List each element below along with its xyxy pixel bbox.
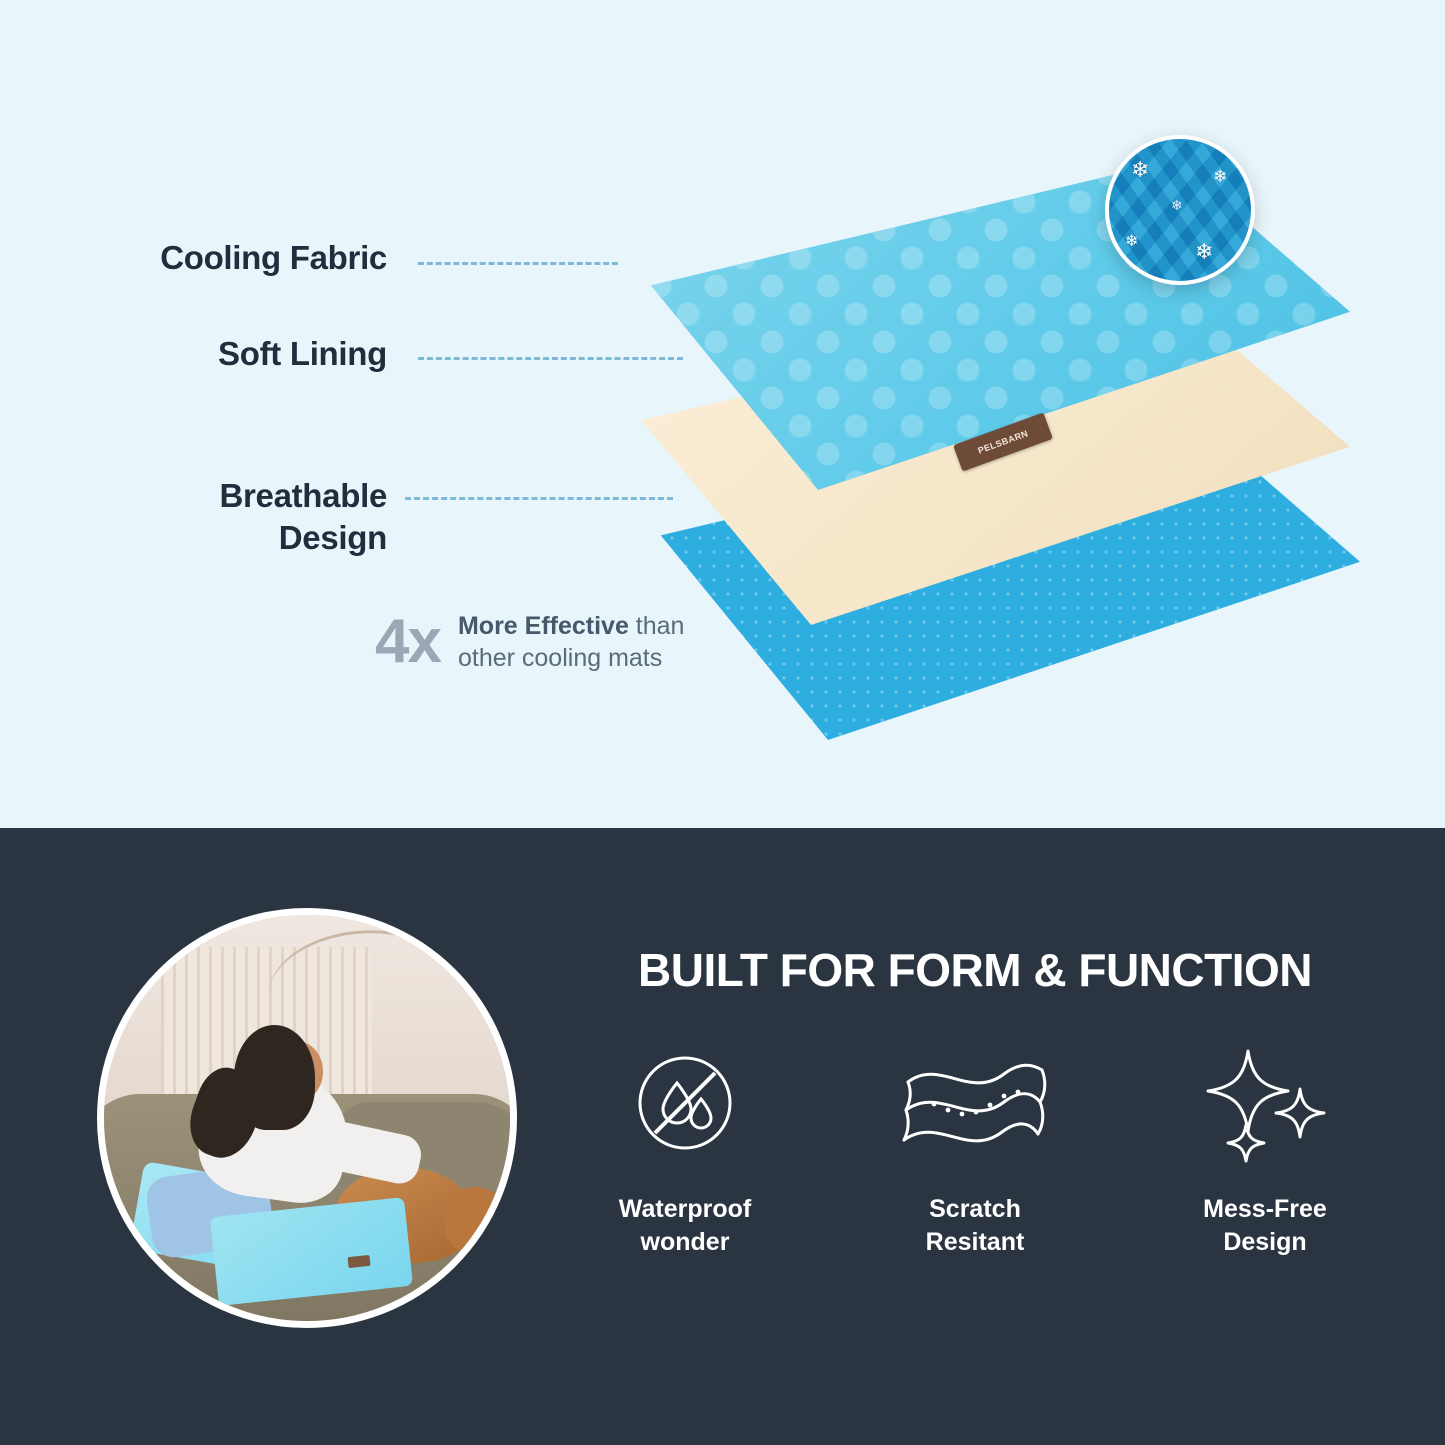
photo-person-hair — [234, 1025, 315, 1131]
feature-waterproof: Waterproof wonder — [560, 1043, 810, 1258]
photo-mat-tag — [347, 1255, 370, 1268]
label-breathable-line2: Design — [279, 519, 387, 556]
feature-label-scratch: Scratch Resitant — [926, 1193, 1025, 1258]
feature-label-waterproof: Waterproof wonder — [619, 1193, 751, 1258]
claim-rest: than — [629, 612, 685, 640]
fabric-closeup-bubble: ❄ ❄ ❄ ❄ ❄ — [1105, 135, 1255, 285]
sparkle-icon — [1200, 1043, 1330, 1163]
snowflake-icon: ❄ — [1125, 231, 1138, 251]
label-cooling-fabric: Cooling Fabric — [0, 237, 387, 279]
claim-emphasis: More Effective — [458, 612, 629, 640]
feature-scratch-resistant: Scratch Resitant — [850, 1043, 1100, 1258]
effectiveness-claim: 4x More Effective than other cooling mat… — [375, 610, 684, 674]
claim-text: More Effective than other cooling mats — [458, 610, 685, 674]
snowflake-icon: ❄ — [1195, 239, 1213, 265]
infographic-page: Cooling Fabric Soft Lining Breathable De… — [0, 0, 1445, 1445]
feature-waterproof-line1: Waterproof — [619, 1195, 751, 1223]
claim-multiplier: 4x — [375, 611, 440, 673]
scratch-resistant-icon — [900, 1043, 1050, 1163]
section-title: BUILT FOR FORM & FUNCTION — [560, 943, 1390, 997]
lifestyle-photo — [97, 908, 517, 1328]
mat-layer-stack: PELSBARN ❄ ❄ ❄ ❄ ❄ — [560, 120, 1400, 740]
feature-mess-free: Mess-Free Design — [1140, 1043, 1390, 1258]
snowflake-icon: ❄ — [1131, 157, 1149, 183]
feature-scratch-line1: Scratch — [929, 1195, 1021, 1223]
features-panel: BUILT FOR FORM & FUNCTION Waterproof won… — [0, 828, 1445, 1445]
feature-scratch-line2: Resitant — [926, 1228, 1025, 1256]
feature-list: Waterproof wonder — [560, 1043, 1390, 1258]
waterproof-icon — [625, 1043, 745, 1163]
claim-line2: other cooling mats — [458, 644, 662, 672]
label-soft-lining: Soft Lining — [0, 333, 387, 375]
snowflake-icon: ❄ — [1213, 167, 1227, 187]
label-breathable-design: Breathable Design — [0, 475, 387, 559]
feature-messfree-line2: Design — [1223, 1228, 1306, 1256]
feature-messfree-line1: Mess-Free — [1203, 1195, 1327, 1223]
label-breathable-line1: Breathable — [219, 477, 387, 514]
feature-waterproof-line2: wonder — [641, 1228, 730, 1256]
layers-panel: Cooling Fabric Soft Lining Breathable De… — [0, 0, 1445, 828]
feature-label-mess-free: Mess-Free Design — [1203, 1193, 1327, 1258]
snowflake-icon: ❄ — [1171, 197, 1183, 214]
